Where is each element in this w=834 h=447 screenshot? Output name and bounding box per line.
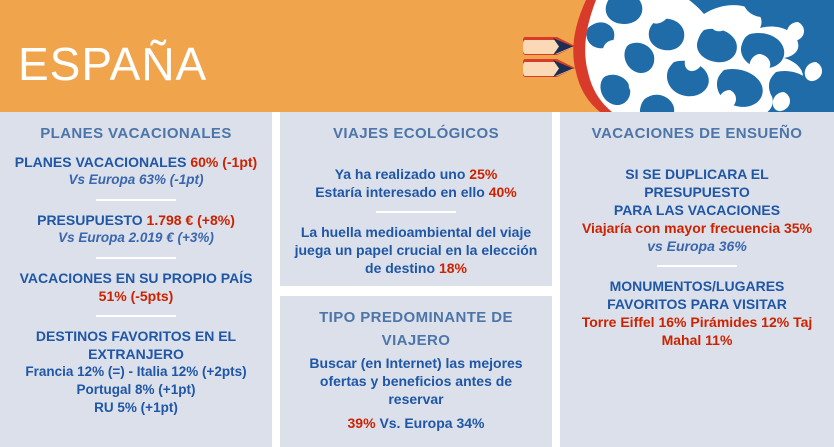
stat-value: 1.798 € (+8%)	[147, 212, 235, 228]
monuments-value-line2: Mahal 11%	[568, 331, 826, 349]
monuments-label-line1: MONUMENTOS/LUGARES	[568, 277, 826, 295]
dream-label-line1: SI SE DUPLICARA EL	[568, 165, 826, 183]
eco-footprint-value: 18%	[439, 260, 467, 276]
eco-footprint-text: de destino	[365, 260, 439, 276]
eco-line-2-text: Estaría interesado en ello	[315, 184, 489, 200]
eco-line-2: Estaría interesado en ello 40%	[288, 183, 544, 201]
destino-item: Francia 12% (=) - Italia 12% (+2pts)	[8, 363, 264, 381]
divider	[96, 257, 176, 259]
tipo-compare: Vs. Europa 34%	[379, 415, 484, 431]
stat-planes-vacacionales: PLANES VACACIONALES 60% (-1pt)	[8, 153, 264, 171]
panel-heading-line2: VIAJERO	[288, 331, 544, 350]
dream-label-line3: PARA LAS VACACIONES	[568, 201, 826, 219]
panel-heading-line1: TIPO PREDOMINANTE DE	[288, 308, 544, 327]
destino-item: Portugal 8% (+1pt)	[8, 381, 264, 399]
monuments-label-line2: FAVORITOS PARA VISITAR	[568, 295, 826, 313]
column-right: VACACIONES DE ENSUEÑO SI SE DUPLICARA EL…	[560, 112, 834, 447]
tipo-desc-line3: reservar	[288, 390, 544, 408]
tipo-desc-line1: Buscar (en Internet) las mejores	[288, 354, 544, 372]
divider	[96, 315, 176, 317]
tipo-stat: 39% Vs. Europa 34%	[288, 414, 544, 432]
stat-label: PLANES VACACIONALES	[15, 154, 187, 170]
dream-value: Viajaría con mayor frecuencia 35%	[568, 219, 826, 237]
content-columns: PLANES VACACIONALES PLANES VACACIONALES …	[0, 112, 834, 447]
double-chevron-logo	[523, 31, 587, 83]
column-left: PLANES VACACIONALES PLANES VACACIONALES …	[0, 112, 272, 447]
stat-value: 60% (-1pt)	[190, 154, 257, 170]
stat-presupuesto: PRESUPUESTO 1.798 € (+8%)	[8, 211, 264, 229]
header-banner: ESPAÑA	[0, 0, 834, 112]
panel-viajes-ecologicos: VIAJES ECOLÓGICOS Ya ha realizado uno 25…	[280, 112, 552, 286]
panel-planes-vacacionales: PLANES VACACIONALES PLANES VACACIONALES …	[0, 112, 272, 447]
stat-propio-pais-value: 51% (-5pts)	[8, 287, 264, 305]
page-title: ESPAÑA	[18, 38, 207, 90]
divider	[376, 211, 456, 213]
stat-planes-compare: Vs Europa 63% (-1pt)	[8, 171, 264, 189]
eco-line-2-value: 40%	[489, 184, 517, 200]
panel-vacaciones-ensueno: VACACIONES DE ENSUEÑO SI SE DUPLICARA EL…	[560, 112, 834, 447]
panel-heading: VIAJES ECOLÓGICOS	[288, 124, 544, 143]
eco-line-1-value: 25%	[469, 166, 497, 182]
panel-tipo-viajero: TIPO PREDOMINANTE DE VIAJERO Buscar (en …	[280, 296, 552, 447]
dream-compare: vs Europa 36%	[568, 237, 826, 255]
destino-item: RU 5% (+1pt)	[8, 399, 264, 417]
tipo-desc-line2: ofertas y beneficios antes de	[288, 372, 544, 390]
stat-presupuesto-compare: Vs Europa 2.019 € (+3%)	[8, 229, 264, 247]
eco-footprint-line3: de destino 18%	[288, 259, 544, 277]
monuments-value-line1: Torre Eiffel 16% Pirámides 12% Taj	[568, 313, 826, 331]
divider	[96, 199, 176, 201]
panel-heading: VACACIONES DE ENSUEÑO	[568, 124, 826, 143]
stat-propio-pais-label: VACACIONES EN SU PROPIO PAÍS	[8, 269, 264, 287]
panel-heading: PLANES VACACIONALES	[8, 124, 264, 143]
eco-line-1: Ya ha realizado uno 25%	[288, 165, 544, 183]
column-middle: VIAJES ECOLÓGICOS Ya ha realizado uno 25…	[280, 112, 552, 447]
divider	[657, 265, 737, 267]
destinos-label-line1: DESTINOS FAVORITOS EN EL	[8, 327, 264, 345]
stat-label: PRESUPUESTO	[37, 212, 143, 228]
destinos-label-line2: EXTRANJERO	[8, 345, 264, 363]
eco-footprint-line1: La huella medioambiental del viaje	[288, 223, 544, 241]
eco-footprint-line2: juega un papel crucial en la elección	[288, 241, 544, 259]
eco-line-1-text: Ya ha realizado uno	[335, 166, 470, 182]
infographic-root: ESPAÑA PLANES VACACIONALES PLANES VACACI…	[0, 0, 834, 447]
dream-label-line2: PRESUPUESTO	[568, 183, 826, 201]
tipo-value: 39%	[348, 415, 376, 431]
